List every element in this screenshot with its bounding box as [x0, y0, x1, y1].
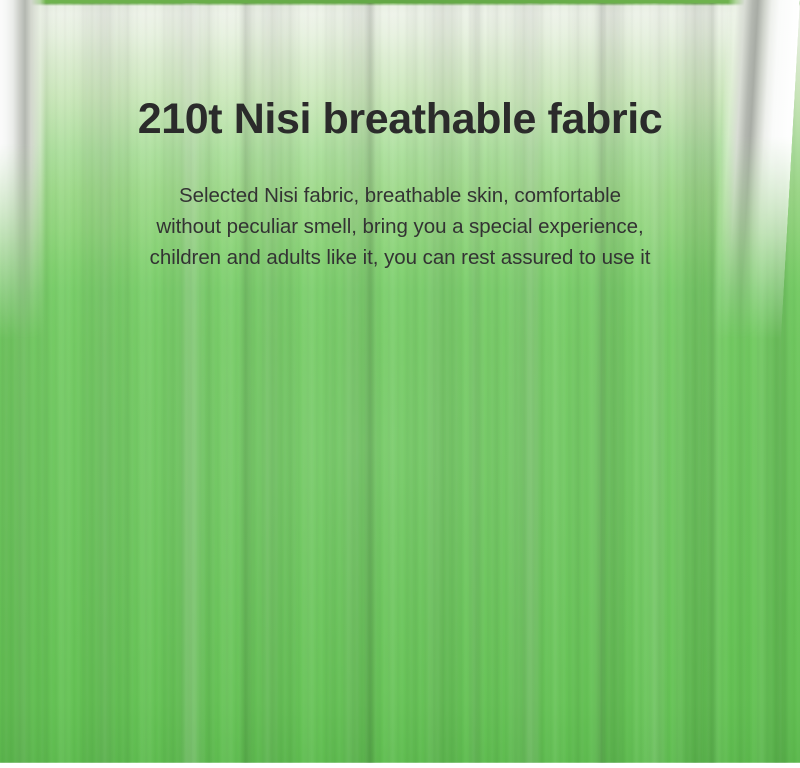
description-line-3: children and adults like it, you can res…	[0, 242, 800, 273]
product-detail-banner: 210t Nisi breathable fabric Selected Nis…	[0, 0, 800, 768]
description-paragraph: Selected Nisi fabric, breathable skin, c…	[0, 180, 800, 273]
headline-title: 210t Nisi breathable fabric	[0, 94, 800, 144]
banner-text-block: 210t Nisi breathable fabric Selected Nis…	[0, 0, 800, 768]
description-line-1: Selected Nisi fabric, breathable skin, c…	[0, 180, 800, 211]
description-line-2: without peculiar smell, bring you a spec…	[0, 211, 800, 242]
